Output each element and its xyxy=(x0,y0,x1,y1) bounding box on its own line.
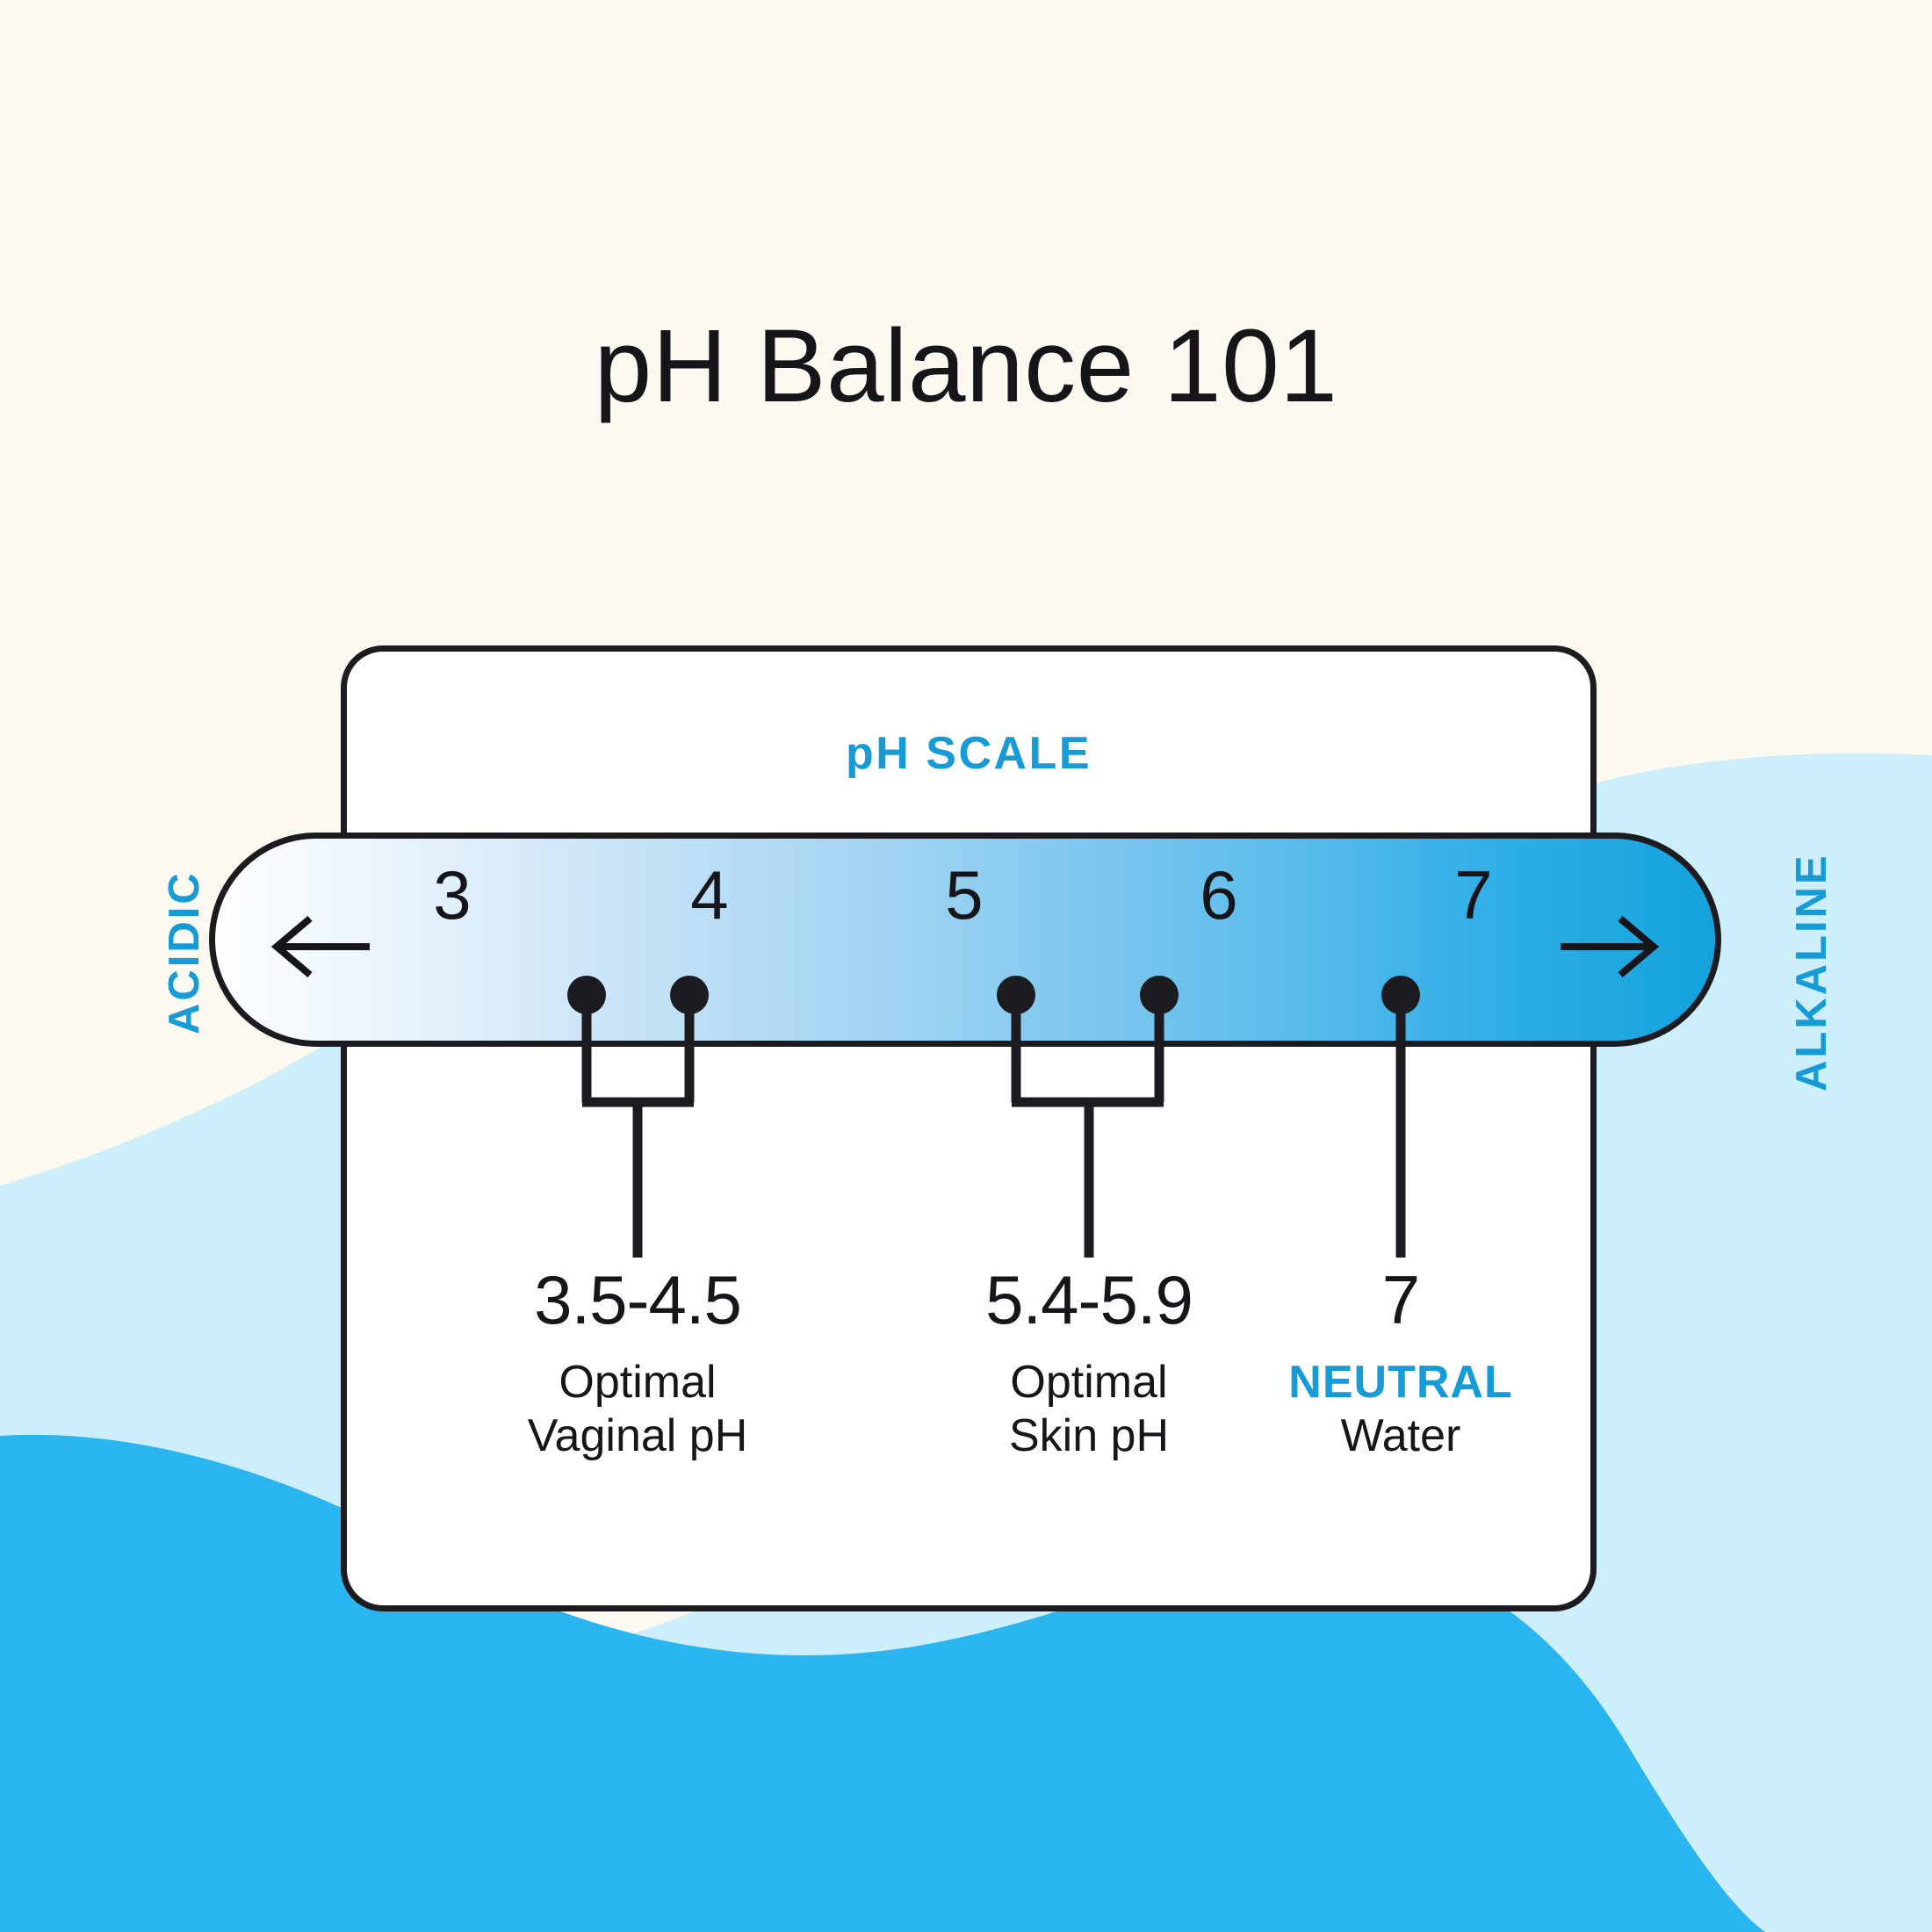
tick-label-7: 7 xyxy=(1421,861,1526,929)
annotation-desc-line2: Water xyxy=(1199,1409,1603,1463)
annotation-desc-line2: Vaginal pH xyxy=(436,1409,840,1463)
alkaline-axis-label: ALKALINE xyxy=(1787,853,1836,1092)
annotation-neutral-water: 7 NEUTRAL Water xyxy=(1199,1265,1603,1464)
ph-scale-card xyxy=(341,645,1597,1611)
tick-label-5: 5 xyxy=(912,861,1017,929)
neutral-badge: NEUTRAL xyxy=(1199,1356,1603,1409)
tick-label-3: 3 xyxy=(400,861,505,929)
annotation-description: Optimal Vaginal pH xyxy=(436,1356,840,1464)
infographic-canvas: pH Balance 101 pH SCALE 3 4 5 6 7 xyxy=(0,0,1932,1932)
ph-scale-label: pH SCALE xyxy=(341,727,1597,780)
tick-label-6: 6 xyxy=(1166,861,1272,929)
annotation-desc-line1: Optimal xyxy=(436,1356,840,1409)
annotation-range: 3.5-4.5 xyxy=(436,1265,840,1337)
annotation-description: NEUTRAL Water xyxy=(1199,1356,1603,1464)
arrow-left-icon xyxy=(266,916,371,977)
page-title: pH Balance 101 xyxy=(0,314,1932,418)
tick-label-4: 4 xyxy=(657,861,762,929)
annotation-vaginal-ph: 3.5-4.5 Optimal Vaginal pH xyxy=(436,1265,840,1464)
annotation-range: 7 xyxy=(1199,1265,1603,1337)
arrow-right-icon xyxy=(1559,916,1664,977)
acidic-axis-label: ACIDIC xyxy=(160,870,209,1034)
